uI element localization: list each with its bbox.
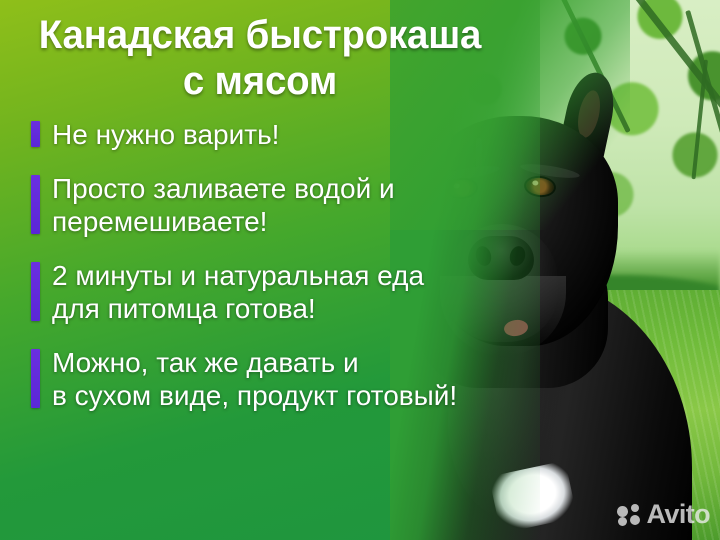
bullet-marker-icon [31,175,40,234]
bullet-marker-icon [31,262,40,321]
list-item: Можно, так же давать и в сухом виде, про… [31,346,576,412]
title-line-1: Канадская быстрокаша [10,12,509,58]
bullet-marker-icon [31,121,40,147]
list-item-label: Не нужно варить! [52,118,576,151]
list-item: Не нужно варить! [31,118,576,151]
list-item-label: Можно, так же давать и в сухом виде, про… [52,346,576,412]
avito-brand-label: Avito [647,501,711,528]
ad-banner: Канадская быстрокаша с мясом Не нужно ва… [0,0,720,540]
list-item: Просто заливаете водой и перемешиваете! [31,172,576,238]
bullet-marker-icon [31,349,40,408]
list-item-label: Просто заливаете водой и перемешиваете! [52,172,576,238]
avito-dots-icon [617,504,641,526]
title-line-2: с мясом [10,58,509,104]
benefit-list: Не нужно варить! Просто заливаете водой … [31,118,576,412]
page-title: Канадская быстрокаша с мясом [0,12,520,105]
list-item-label: 2 минуты и натуральная еда для питомца г… [52,259,576,325]
avito-watermark: Avito [617,501,711,528]
list-item: 2 минуты и натуральная еда для питомца г… [31,259,576,325]
